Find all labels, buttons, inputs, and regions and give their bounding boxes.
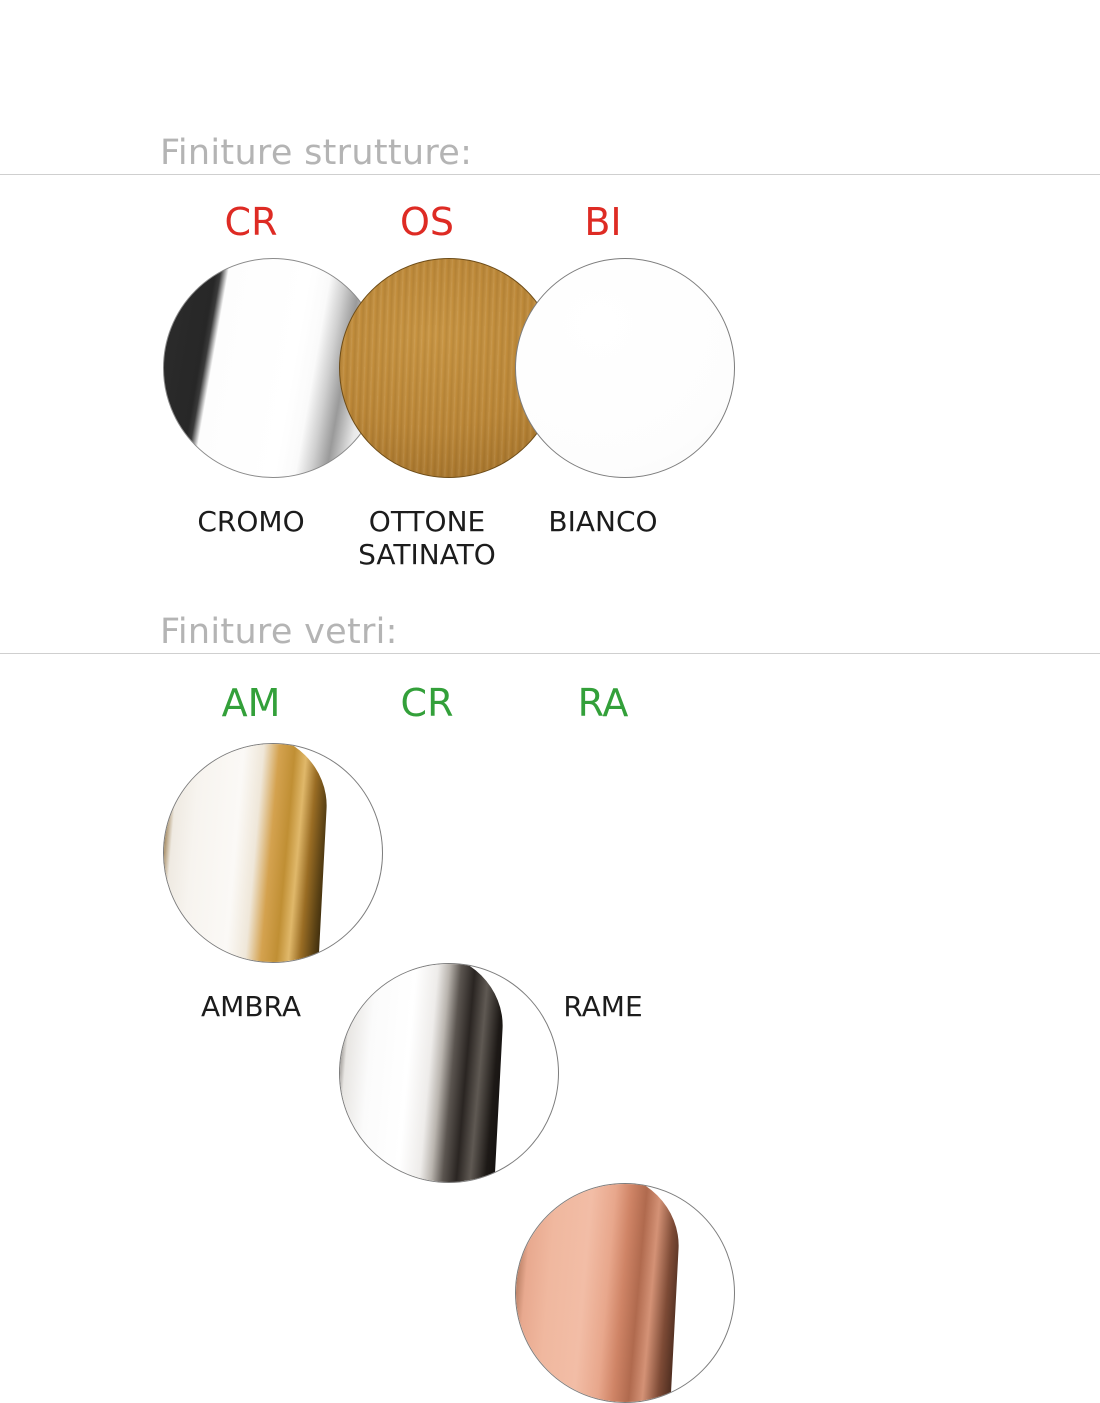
swatch-copper-glass[interactable] [515, 1183, 735, 1403]
swatch-row-structures [0, 258, 1100, 490]
code-os-brass[interactable]: OS [339, 198, 515, 246]
swatch-white[interactable] [515, 258, 735, 478]
amber-tube-image [163, 743, 330, 963]
divider-glass [0, 653, 1100, 654]
divider-structures [0, 174, 1100, 175]
label-ottone-satinato: OTTONE SATINATO [339, 505, 515, 571]
swatch-row-glass [0, 743, 1100, 975]
name-row-structures: CROMO OTTONE SATINATO BIANCO [163, 505, 738, 571]
swatch-chrome-glass[interactable] [339, 963, 559, 1183]
code-row-structures: CR OS BI [163, 198, 738, 246]
copper-tube-image [515, 1183, 682, 1403]
code-cr-chrome[interactable]: CR [163, 198, 339, 246]
code-row-glass: AM CR RA [163, 679, 738, 727]
section-title-structures: Finiture strutture: [160, 136, 472, 171]
code-ra-copper[interactable]: RA [515, 679, 691, 727]
finishes-page: Finiture strutture: CR OS BI CROMO OTTON… [0, 0, 1100, 1100]
label-ambra: AMBRA [163, 990, 339, 1023]
label-bianco: BIANCO [515, 505, 691, 538]
swatch-amber-glass[interactable] [163, 743, 383, 963]
section-title-glass: Finiture vetri: [160, 615, 398, 650]
code-bi-white[interactable]: BI [515, 198, 691, 246]
label-cromo: CROMO [163, 505, 339, 538]
code-cr-chrome-glass[interactable]: CR [339, 679, 515, 727]
chrome-tube-image [339, 963, 506, 1183]
code-am-amber[interactable]: AM [163, 679, 339, 727]
